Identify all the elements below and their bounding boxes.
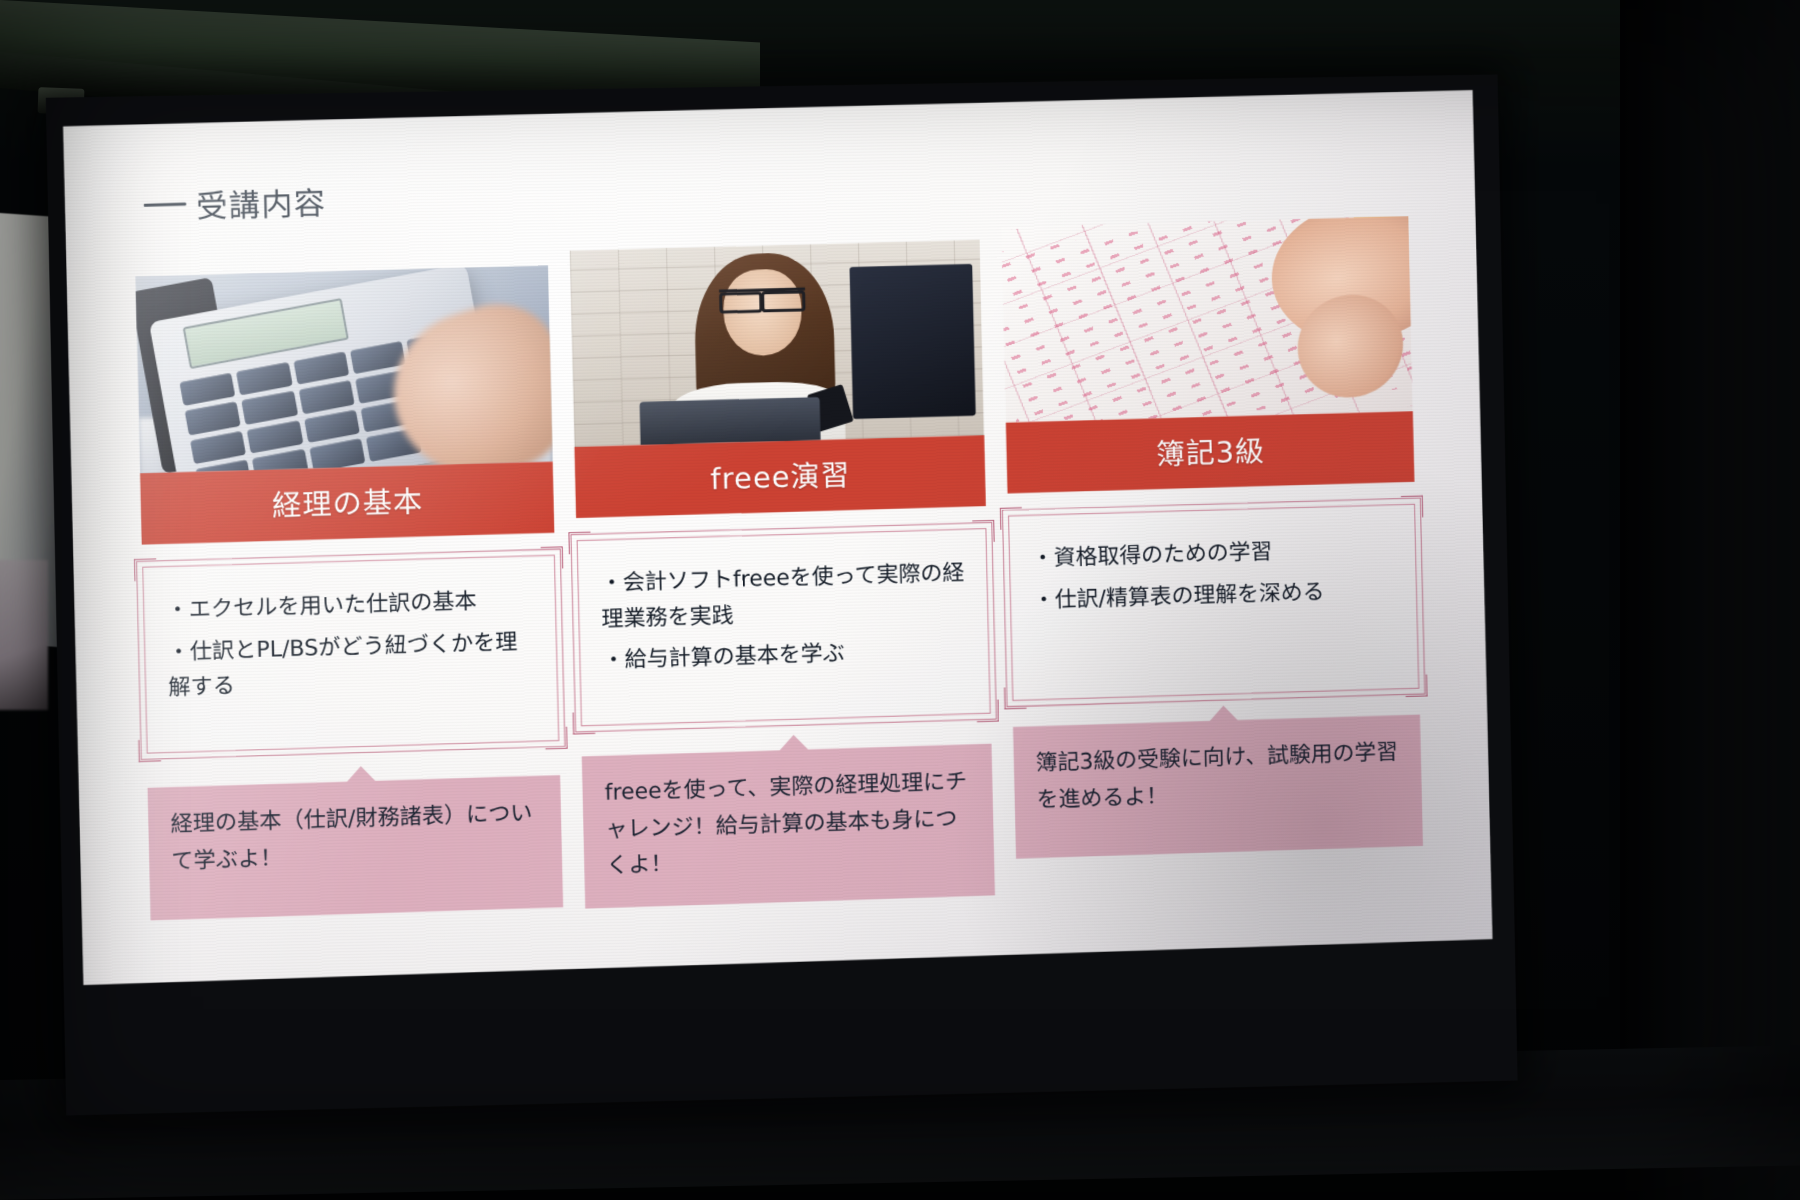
bracket-corner-icon [573, 712, 596, 735]
bracket-corner-icon [1004, 687, 1026, 710]
bullet-box-1: ・エクセルを用いた仕訳の基本 ・仕訳とPL/BSがどう紐づくかを理解する [142, 555, 559, 754]
bullet-box-3: ・資格取得のための学習 ・仕訳/精算表の理解を深める [1008, 504, 1419, 701]
note-text: freeeを使って、実際の経理処理にチャレンジ！給与計算の基本も身につくよ！ [604, 764, 974, 885]
title-dash-icon [144, 203, 186, 207]
bracket-corner-icon [568, 532, 591, 555]
bullet-item: ・仕訳/精算表の理解を深める [1033, 573, 1397, 619]
monitor [849, 263, 975, 419]
laptop [639, 397, 821, 447]
card-caption-1: 経理の基本 [140, 462, 554, 545]
card-caption-3: 簿記3級 [1006, 411, 1415, 493]
course-card-freee-enshu: freee演習 ・会計ソフトfreeeを使って実際の経理業務を実践 ・給与計算の… [569, 228, 995, 908]
bullet-box-2: ・会計ソフトfreeeを使って実際の経理業務を実践 ・給与計算の基本を学ぶ [577, 528, 991, 726]
note-wrapper-1: 経理の基本（仕訳/財務諸表）について学ぶよ！ [147, 775, 563, 920]
page-title: 受講内容 [196, 178, 327, 227]
card-media-2 [570, 240, 984, 447]
bracket-corner-icon [972, 520, 994, 543]
bracket-corner-icon [545, 727, 568, 750]
answer-sheet-pencil-photo [1001, 216, 1413, 423]
right-wall [1620, 0, 1800, 1200]
note-pointer-icon [346, 766, 377, 783]
bracket-corner-icon [1405, 674, 1427, 697]
bullet-item: ・仕訳とPL/BSがどう紐づくかを理解する [167, 624, 537, 707]
bracket-corner-icon [1401, 495, 1423, 518]
bracket-corner-icon [1000, 507, 1022, 530]
slide-title-row: 受講内容 [143, 149, 1419, 228]
course-card-boki-3kyu: 簿記3級 ・資格取得のための学習 ・仕訳/精算表の理解を深める 簿記3級の受験に… [1001, 216, 1423, 859]
note-wrapper-3: 簿記3級の受験に向け、試験用の学習を進めるよ！ [1013, 714, 1423, 858]
note-box-2: freeeを使って、実際の経理処理にチャレンジ！給与計算の基本も身につくよ！ [582, 744, 995, 908]
card-media-3 [1001, 216, 1413, 423]
card-caption-2: freee演習 [574, 435, 985, 518]
card-media-1 [135, 265, 552, 473]
calculator-photo [135, 265, 552, 473]
bullet-item: ・資格取得のための学習 [1032, 531, 1396, 577]
note-pointer-icon [1208, 705, 1238, 722]
bracket-corner-icon [134, 558, 157, 581]
note-box-3: 簿記3級の受験に向け、試験用の学習を進めるよ！ [1013, 714, 1423, 858]
projection-screen: 受講内容 [46, 74, 1518, 1115]
course-card-keiri-no-kihon: 経理の基本 ・エクセルを用いた仕訳の基本 ・仕訳とPL/BSがどう紐づくかを理解… [135, 239, 563, 920]
presentation-slide: 受講内容 [63, 90, 1492, 985]
content-columns: 経理の基本 ・エクセルを用いた仕訳の基本 ・仕訳とPL/BSがどう紐づくかを理解… [123, 216, 1436, 923]
window-light-lower [0, 560, 48, 710]
note-text: 経理の基本（仕訳/財務諸表）について学ぶよ！ [170, 796, 542, 881]
note-text: 簿記3級の受験に向け、試験用の学習を進めるよ！ [1035, 735, 1402, 819]
bracket-corner-icon [976, 700, 998, 723]
note-pointer-icon [778, 734, 808, 751]
note-box-1: 経理の基本（仕訳/財務諸表）について学ぶよ！ [147, 775, 563, 920]
bullet-item: ・エクセルを用いた仕訳の基本 [166, 582, 535, 629]
note-wrapper-2: freeeを使って、実際の経理処理にチャレンジ！給与計算の基本も身につくよ！ [582, 744, 995, 908]
bullet-item: ・会計ソフトfreeeを使って実際の経理業務を実践 [600, 556, 967, 638]
bracket-corner-icon [541, 546, 564, 569]
glasses-icon [719, 287, 805, 307]
bracket-corner-icon [138, 739, 161, 762]
woman-at-laptop-photo [570, 240, 984, 447]
bullet-item: ・給与計算の基本を学ぶ [602, 633, 969, 680]
